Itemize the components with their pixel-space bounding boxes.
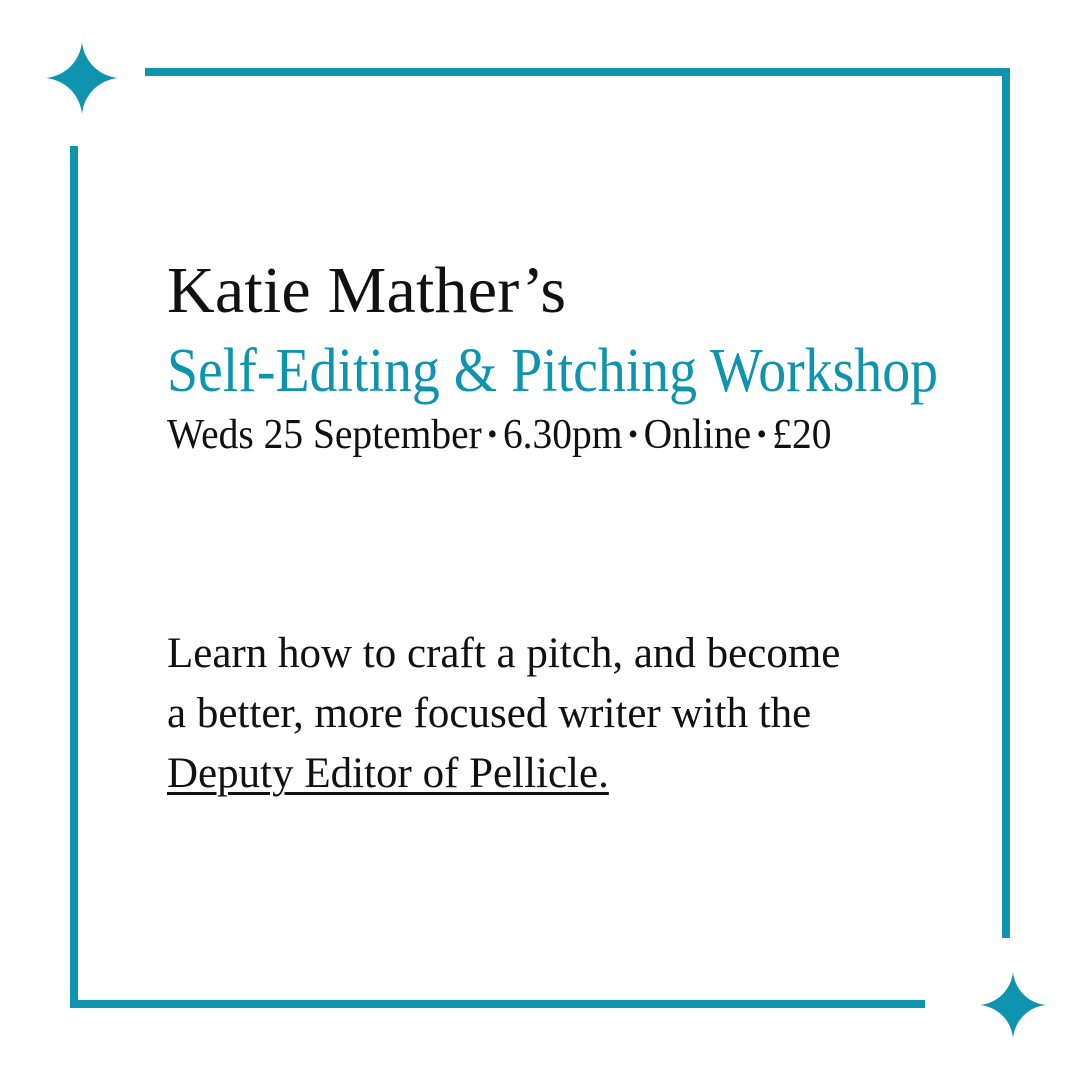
description-line-1: Learn how to craft a pitch, and become — [167, 624, 927, 684]
event-poster: Katie Mather’s Self-Editing & Pitching W… — [0, 0, 1080, 1080]
detail-separator: • — [482, 418, 503, 451]
event-date: Weds 25 September — [167, 412, 482, 458]
workshop-subtitle: Self-Editing & Pitching Workshop — [167, 340, 938, 402]
event-details: Weds 25 September•6.30pm•Online•£20 — [167, 414, 831, 456]
sparkle-icon — [46, 42, 118, 114]
description-line-2: a better, more focused writer with the — [167, 684, 927, 744]
detail-separator: • — [622, 418, 643, 451]
poster-content: Katie Mather’s Self-Editing & Pitching W… — [167, 0, 967, 1080]
description-line-3-credit: Deputy Editor of Pellicle. — [167, 744, 927, 804]
frame-rule-right — [1002, 68, 1010, 938]
event-price: £20 — [772, 412, 831, 458]
page-title: Katie Mather’s — [167, 258, 566, 324]
event-location: Online — [644, 412, 751, 458]
description-text: Learn how to craft a pitch, and become a… — [167, 624, 927, 805]
detail-separator: • — [751, 418, 772, 451]
event-time: 6.30pm — [503, 412, 623, 458]
frame-rule-left — [70, 146, 78, 1008]
sparkle-icon — [980, 972, 1046, 1038]
